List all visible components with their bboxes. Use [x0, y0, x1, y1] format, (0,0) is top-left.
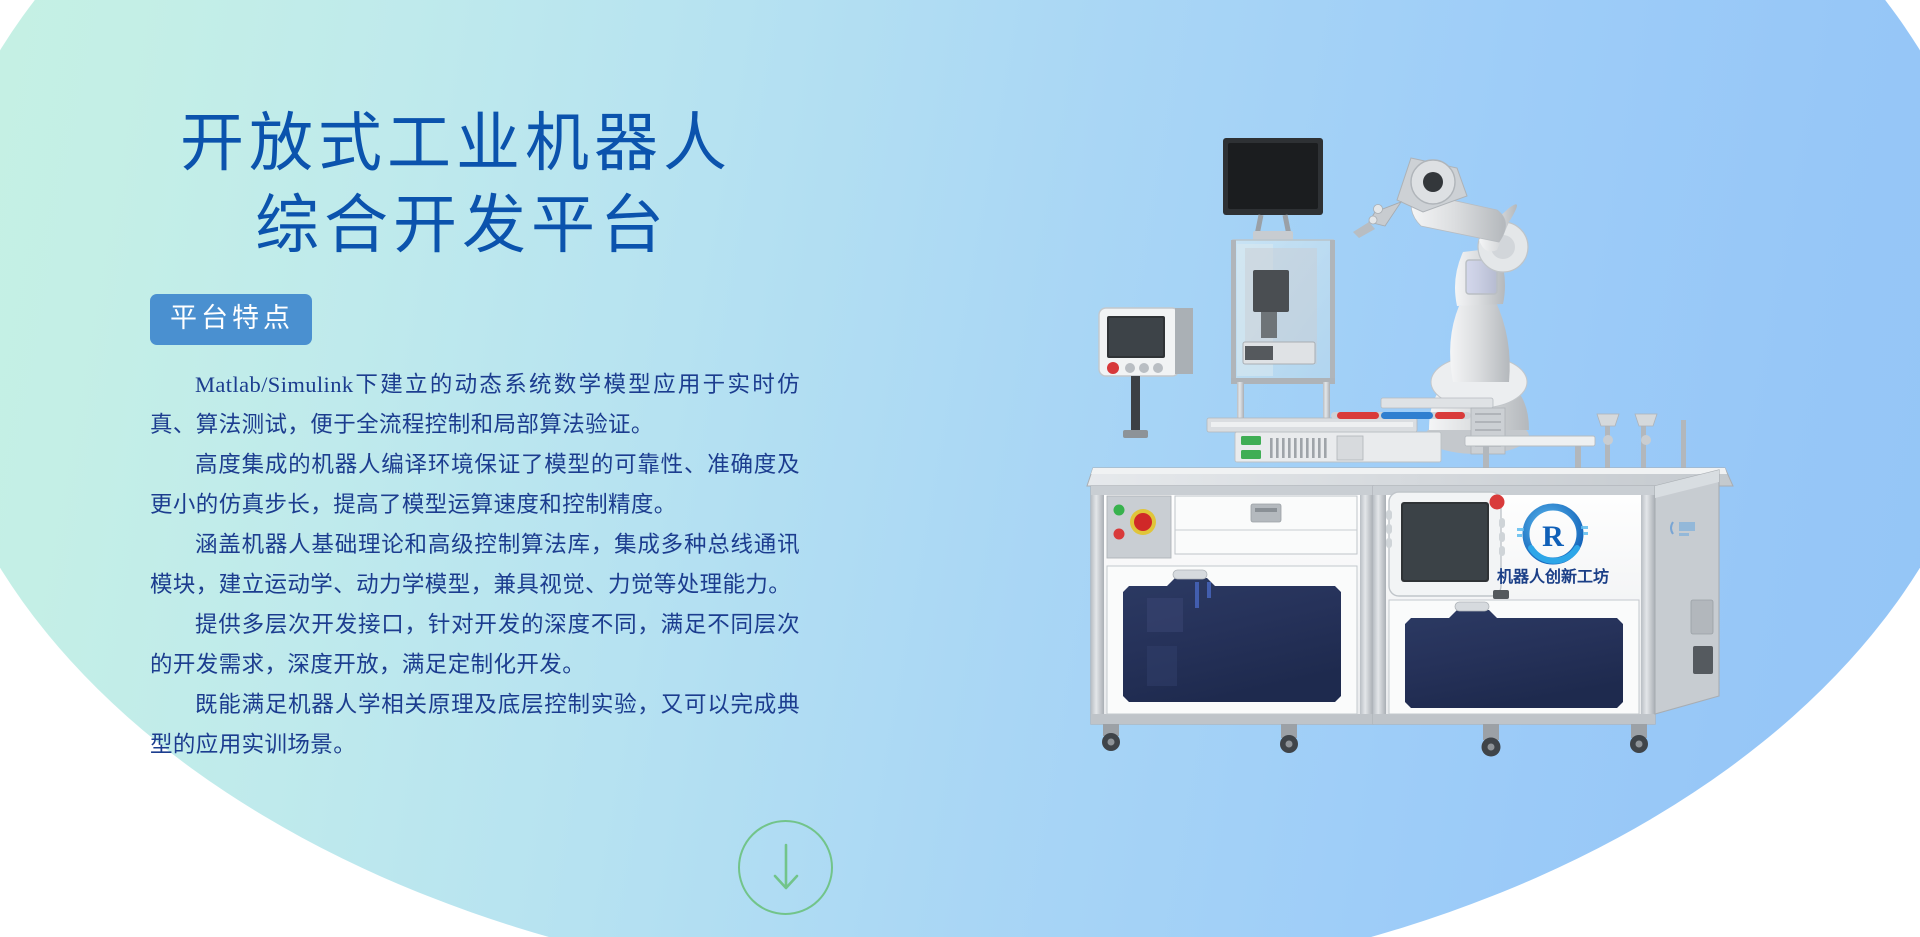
feature-paragraph: 高度集成的机器人编译环境保证了模型的可靠性、准确度及更小的仿真步长，提高了模型运…	[150, 445, 800, 525]
feature-paragraph-list: Matlab/Simulink下建立的动态系统数学模型应用于实时仿真、算法测试，…	[150, 365, 800, 765]
feature-paragraph: 涵盖机器人基础理论和高级控制算法库，集成多种总线通讯模块，建立运动学、动力学模型…	[150, 525, 800, 605]
control-cabinet-right: R 机器人创新工坊	[1373, 486, 1655, 724]
hero-text-column: 开放式工业机器人 综合开发平台 平台特点 Matlab/Simulink下建立的…	[150, 108, 980, 765]
indicator-light-green	[1114, 505, 1125, 516]
title-line-1: 开放式工业机器人	[150, 108, 980, 180]
hero-banner: 开放式工业机器人 综合开发平台 平台特点 Matlab/Simulink下建立的…	[0, 0, 1920, 937]
display-monitor	[1223, 138, 1323, 241]
scroll-down-button[interactable]	[738, 820, 833, 915]
badge-container: 平台特点	[150, 294, 980, 345]
platform-features-badge: 平台特点	[150, 294, 312, 345]
bench-top	[1087, 468, 1733, 486]
side-panel	[1655, 470, 1719, 714]
page-title: 开放式工业机器人 综合开发平台	[150, 108, 980, 262]
robot-workcell-illustration: R 机器人创新工坊	[1085, 130, 1785, 780]
hmi-touch-panel	[1099, 308, 1193, 438]
title-line-2: 综合开发平台	[150, 190, 980, 262]
feature-paragraph: 提供多层次开发接口，针对开发的深度不同，满足不同层次的开发需求，深度开放，满足定…	[150, 605, 800, 685]
glass-enclosure	[1231, 240, 1335, 432]
caster-wheels	[1102, 724, 1648, 757]
brand-label: 机器人创新工坊	[1497, 567, 1609, 586]
feature-paragraph: 既能满足机器人学相关原理及底层控制实验，又可以完成典型的应用实训场景。	[150, 685, 800, 765]
indicator-light-red	[1114, 529, 1125, 540]
feature-paragraph: Matlab/Simulink下建立的动态系统数学模型应用于实时仿真、算法测试，…	[150, 365, 800, 445]
control-cabinet-left	[1091, 486, 1373, 724]
arrow-down-icon	[769, 841, 803, 895]
svg-text:R: R	[1542, 520, 1564, 553]
